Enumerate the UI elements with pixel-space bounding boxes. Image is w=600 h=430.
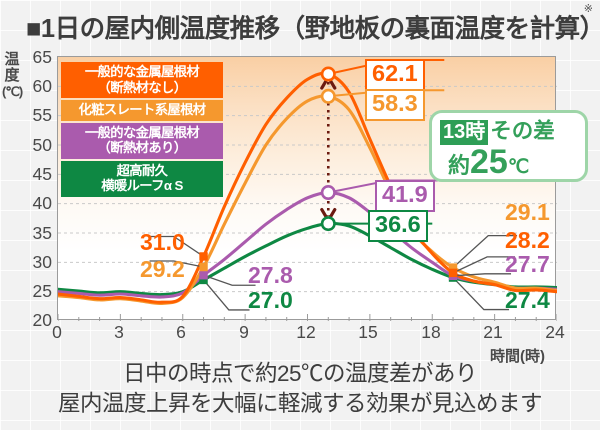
difference-callout: 13時その差 約25℃	[429, 110, 588, 182]
value-label-peak-metal-no-insulation: 62.1	[365, 59, 425, 91]
y-tick-label: 35	[18, 223, 52, 244]
value-label-evening-slate: 29.1	[505, 201, 550, 224]
y-tick-label: 60	[18, 76, 52, 97]
value-label-peak-metal-with-insulation: 41.9	[375, 180, 435, 212]
x-tick-label: 15	[353, 322, 383, 343]
value-label-morning-metal-no-insulation: 31.0	[140, 231, 185, 254]
x-tick-label: 24	[540, 322, 570, 343]
value-label-peak-slate: 58.3	[365, 89, 425, 121]
callout-unit: ℃	[508, 157, 529, 178]
legend-item-label: 超高耐久	[61, 163, 223, 179]
callout-approx-label: 約	[448, 153, 470, 178]
caption: 日中の時点で約25℃の温度差があり 屋内温度上昇を大幅に軽減する効果が見込めます	[0, 359, 600, 419]
legend-item-label: 横暖ルーフα S	[61, 178, 223, 194]
y-tick-label: 30	[18, 252, 52, 273]
caption-line: 日中の時点で約25℃の温度差があり	[0, 359, 600, 389]
legend-item-metal-with-insulation[interactable]: 一般的な金属屋根材 （断熱材あり）	[61, 123, 223, 159]
x-tick-label: 9	[229, 322, 259, 343]
value-label-evening-metal-with-insulation: 27.7	[505, 253, 550, 276]
y-tick-label: 65	[18, 47, 52, 68]
x-tick-label: 0	[42, 322, 72, 343]
y-tick-label: 40	[18, 193, 52, 214]
value-label-morning-yokodan-roof: 27.0	[248, 289, 293, 312]
y-tick-label: 45	[18, 164, 52, 185]
x-tick-label: 21	[478, 322, 508, 343]
caption-line: 屋内温度上昇を大幅に軽減する効果が見込めます	[0, 389, 600, 419]
y-tick-label: 50	[18, 135, 52, 156]
callout-line-2: 約25℃	[448, 144, 529, 186]
value-label-morning-slate: 29.2	[140, 258, 185, 281]
value-label-peak-yokodan-roof: 36.6	[368, 210, 428, 242]
asterisk-note: ※	[584, 2, 593, 15]
page-title: ■1日の屋内側温度推移（野地板の裏面温度を計算）	[26, 8, 600, 45]
legend-item-slate[interactable]: 化粧スレート系屋根材	[61, 100, 223, 121]
x-tick-label: 3	[104, 322, 134, 343]
legend-item-label: （断熱材あり）	[61, 140, 223, 156]
legend-item-metal-no-insulation[interactable]: 一般的な金属屋根材 （断熱材なし）	[61, 62, 223, 98]
callout-text: その差	[490, 119, 555, 143]
callout-time-badge: 13時	[440, 120, 488, 145]
callout-value: 25	[470, 143, 508, 181]
legend-item-label: （断熱材なし）	[61, 80, 223, 96]
legend: 一般的な金属屋根材 （断熱材なし） 化粧スレート系屋根材 一般的な金属屋根材 （…	[61, 62, 223, 199]
legend-item-yokodan-roof[interactable]: 超高耐久 横暖ルーフα S	[61, 161, 223, 197]
y-tick-label: 25	[18, 281, 52, 302]
value-label-evening-metal-no-insulation: 28.2	[505, 229, 550, 252]
callout-line-1: 13時その差	[440, 117, 555, 146]
legend-item-label: 一般的な金属屋根材	[61, 125, 223, 141]
y-tick-label: 55	[18, 105, 52, 126]
legend-item-label: 化粧スレート系屋根材	[61, 102, 223, 118]
value-label-evening-yokodan-roof: 27.4	[505, 289, 550, 312]
legend-item-label: 一般的な金属屋根材	[61, 64, 223, 80]
x-tick-label: 18	[416, 322, 446, 343]
value-label-morning-metal-with-insulation: 27.8	[248, 264, 293, 287]
x-tick-label: 6	[166, 322, 196, 343]
chart-page: ■1日の屋内側温度推移（野地板の裏面温度を計算） ※ 温 度 (℃) 65 60…	[0, 0, 600, 430]
x-tick-label: 12	[291, 322, 321, 343]
